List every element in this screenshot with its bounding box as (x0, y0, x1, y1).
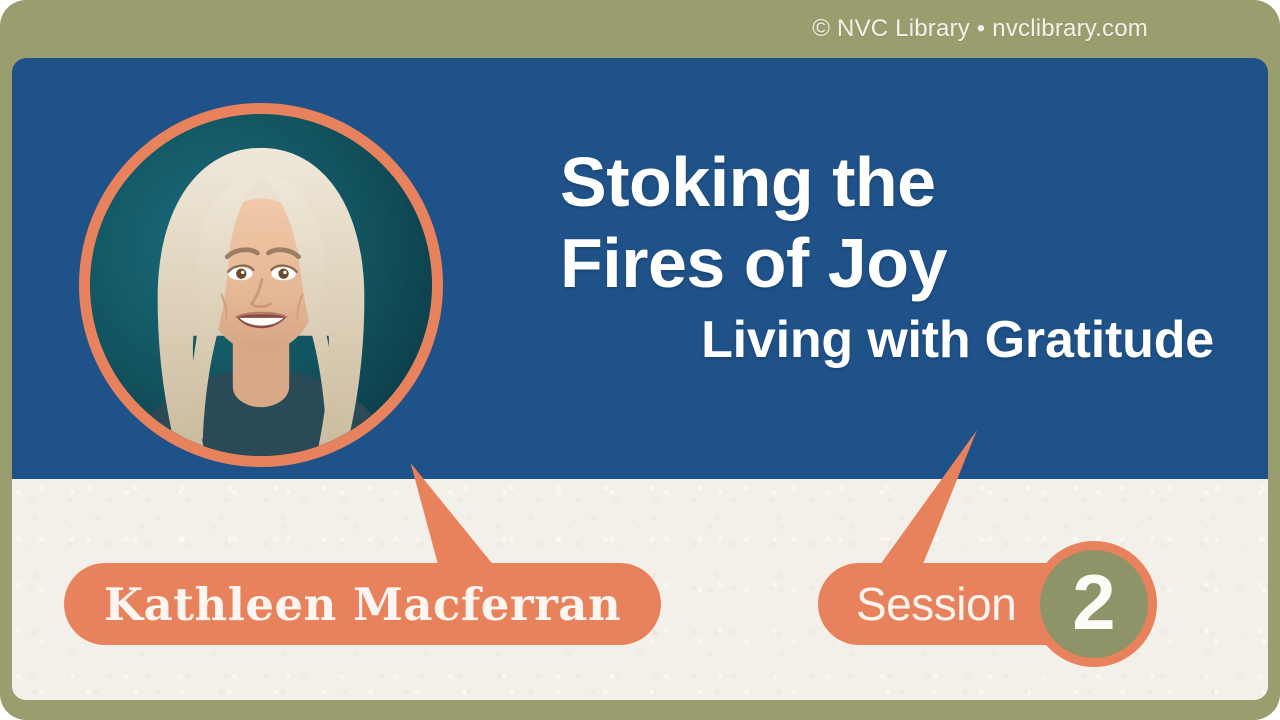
subtitle: Living with Gratitude (560, 309, 1220, 371)
session-label: Session (856, 577, 1016, 631)
portrait-photo-icon (90, 114, 432, 456)
speaker-portrait (79, 103, 443, 467)
presentation-slide: © NVC Library • nvclibrary.com (0, 0, 1280, 720)
copyright-text: © NVC Library • nvclibrary.com (812, 15, 1148, 43)
session-number-badge: 2 (1031, 541, 1157, 667)
speaker-name-pill: Kathleen Macferran (64, 563, 661, 645)
session-number: 2 (1072, 563, 1115, 641)
slide-card: Stoking the Fires of Joy Living with Gra… (12, 58, 1268, 700)
title-line-1: Stoking the (560, 142, 1220, 223)
copyright-bar: © NVC Library • nvclibrary.com (0, 0, 1280, 58)
title-line-2: Fires of Joy (560, 223, 1220, 304)
title-block: Stoking the Fires of Joy Living with Gra… (560, 142, 1220, 371)
speaker-name: Kathleen Macferran (104, 578, 621, 631)
